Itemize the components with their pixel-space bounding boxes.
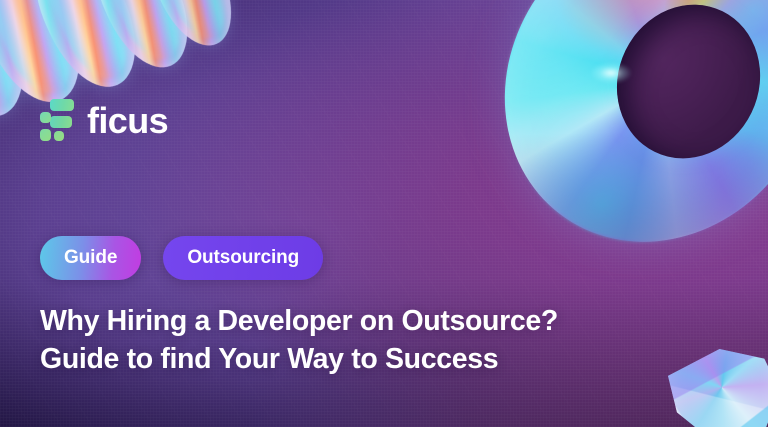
article-title-line-2: Guide to find Your Way to Success: [40, 340, 740, 378]
logo-wordmark: ficus: [87, 103, 168, 139]
badge-guide[interactable]: Guide: [40, 236, 141, 280]
category-badge-group: Guide Outsourcing: [40, 236, 323, 280]
logo-block-accent: [54, 131, 64, 141]
hero-banner: ficus Guide Outsourcing Why Hiring a Dev…: [0, 0, 768, 427]
logo-block-stem-upper: [40, 112, 51, 123]
article-title: Why Hiring a Developer on Outsource? Gui…: [40, 302, 740, 378]
logo-block-stem-lower: [40, 129, 51, 141]
logo-block-middle: [50, 116, 72, 128]
logo-block-top: [50, 99, 74, 111]
banner-content: ficus Guide Outsourcing Why Hiring a Dev…: [0, 0, 768, 427]
ficus-f-blocks-icon: [40, 98, 74, 144]
article-title-line-1: Why Hiring a Developer on Outsource?: [40, 302, 740, 340]
ficus-logo[interactable]: ficus: [40, 98, 168, 144]
badge-outsourcing[interactable]: Outsourcing: [163, 236, 323, 280]
